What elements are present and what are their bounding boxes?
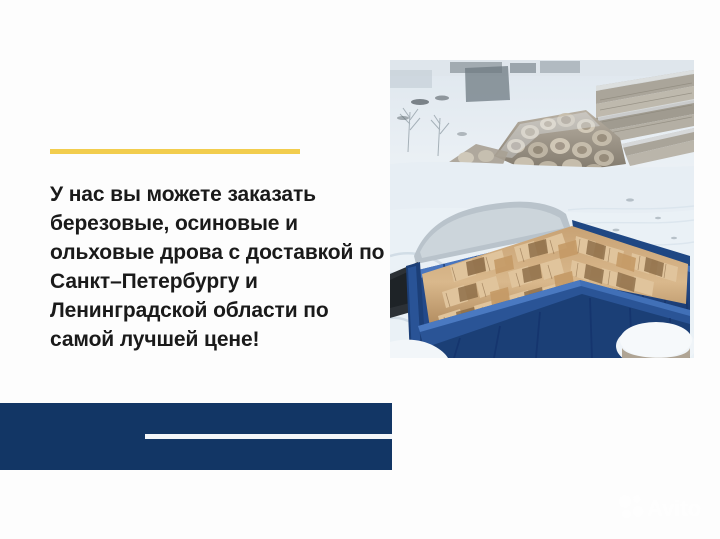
avito-wordmark: Avito xyxy=(647,496,701,521)
headline-text: У нас вы можете заказать березовые, осин… xyxy=(50,180,390,354)
navy-band-white-rule xyxy=(145,434,392,439)
firewood-trailer-photo xyxy=(390,60,694,358)
yellow-accent-rule xyxy=(50,149,300,154)
photo-illustration xyxy=(390,60,694,358)
image-canvas: У нас вы можете заказать березовые, осин… xyxy=(0,0,720,539)
avito-logo-icon: Avito xyxy=(617,493,703,521)
avito-watermark: Avito xyxy=(617,493,703,521)
